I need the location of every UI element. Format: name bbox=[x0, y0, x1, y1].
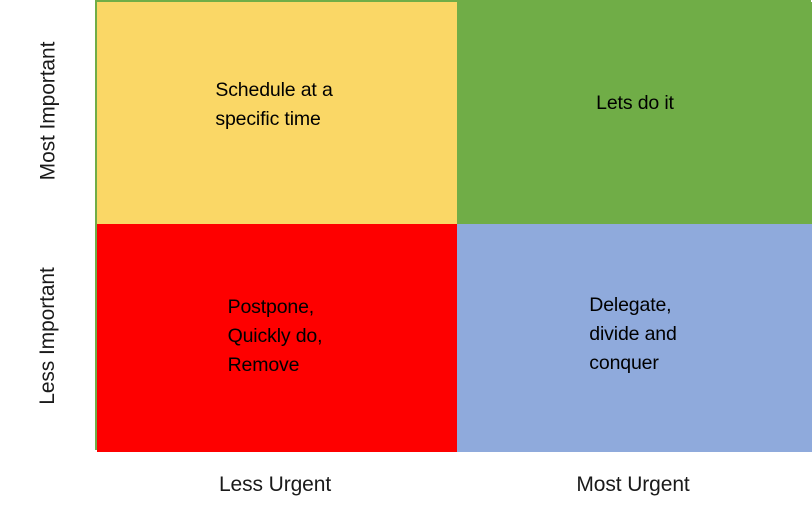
quadrant-delegate-label: Delegate, divide and conquer bbox=[589, 291, 676, 378]
quadrant-do[interactable]: Lets do it bbox=[457, 2, 812, 224]
y-axis-label-most-important: Most Important bbox=[0, 0, 96, 222]
y-axis-label-most-important-text: Most Important bbox=[36, 42, 60, 181]
quadrant-postpone-label: Postpone, Quickly do, Remove bbox=[228, 293, 323, 380]
eisenhower-matrix-diagram: Most Important Less Important Schedule a… bbox=[0, 0, 812, 520]
quadrant-delegate[interactable]: Delegate, divide and conquer bbox=[457, 224, 812, 452]
y-axis-label-less-important-text: Less Important bbox=[36, 267, 60, 405]
quadrant-grid: Schedule at a specific time Lets do it P… bbox=[95, 0, 811, 450]
quadrant-postpone[interactable]: Postpone, Quickly do, Remove bbox=[97, 224, 457, 452]
quadrant-do-label: Lets do it bbox=[596, 89, 674, 118]
y-axis-label-less-important: Less Important bbox=[0, 222, 96, 450]
x-axis-label-most-urgent-text: Most Urgent bbox=[576, 473, 689, 497]
x-axis-label-less-urgent: Less Urgent bbox=[95, 450, 455, 520]
x-axis-label-less-urgent-text: Less Urgent bbox=[219, 473, 331, 497]
quadrant-schedule[interactable]: Schedule at a specific time bbox=[97, 2, 457, 224]
quadrant-schedule-label: Schedule at a specific time bbox=[215, 76, 332, 134]
x-axis-label-most-urgent: Most Urgent bbox=[455, 450, 811, 520]
